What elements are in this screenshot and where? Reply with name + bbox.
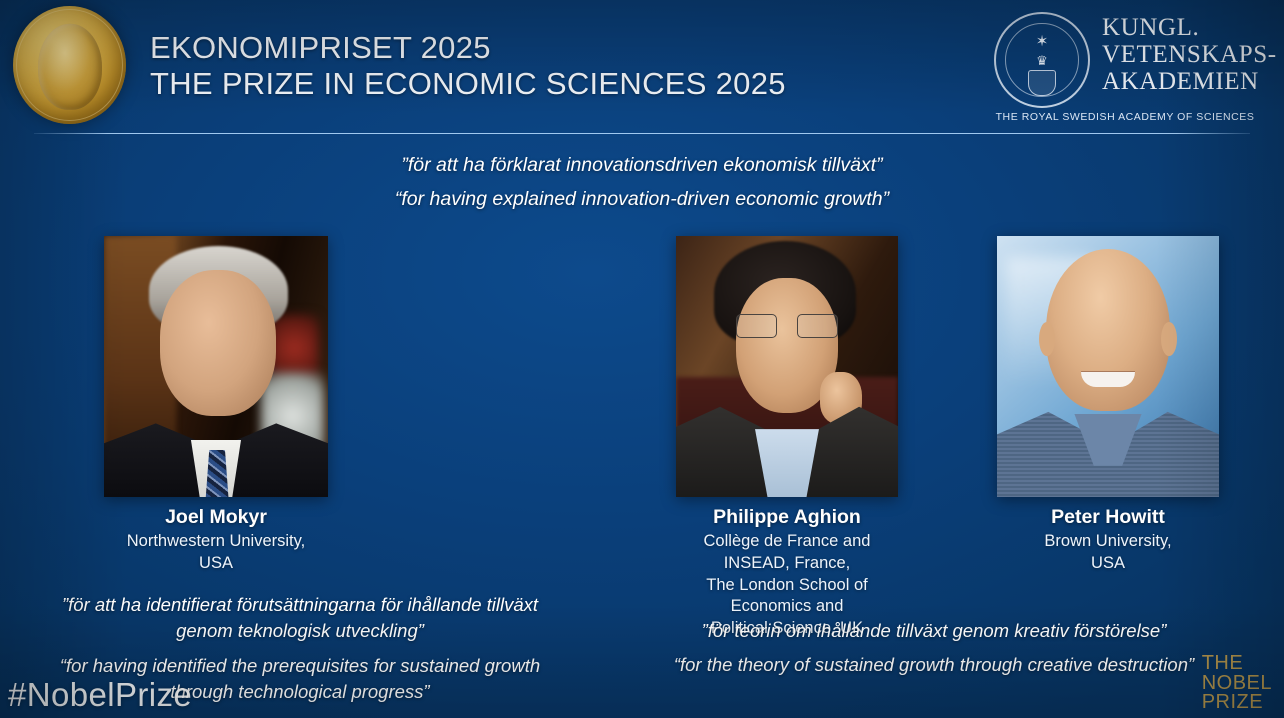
title-english: THE PRIZE IN ECONOMIC SCIENCES 2025 (150, 66, 786, 102)
affiliation-line: Northwestern University, (104, 531, 328, 553)
affiliation-line: USA (104, 553, 328, 575)
nobel-prize-announcement-slide: EKONOMIPRISET 2025 THE PRIZE IN ECONOMIC… (0, 0, 1284, 718)
academy-line-2: VETENSKAPS- (1102, 41, 1277, 68)
main-citation-english: “for having explained innovation-driven … (0, 182, 1284, 216)
watermark-line-1: THE (1202, 654, 1272, 673)
affiliation-line: The London School of Economics and (676, 575, 898, 619)
citation-left-swedish-2: genom teknologisk utveckling” (0, 618, 600, 644)
nobel-medal-icon (13, 6, 126, 124)
header-divider (34, 133, 1250, 134)
academy-line-3: AKADEMIEN (1102, 68, 1277, 95)
title-swedish: EKONOMIPRISET 2025 (150, 30, 786, 66)
nobel-prize-watermark: THE NOBEL PRIZE (1202, 654, 1272, 712)
star-icon: ✶ (1036, 34, 1049, 49)
crown-icon: ♛ (1036, 54, 1048, 67)
laureate-card-mokyr: Photo: Peter Mosimann Joel Mokyr Northwe… (104, 236, 328, 575)
laureate-photo-howitt (997, 236, 1219, 497)
royal-academy-seal-icon: ✶ ♛ (994, 12, 1090, 108)
watermark-line-2: NOBEL (1202, 674, 1272, 693)
affiliation-line: Brown University, (997, 531, 1219, 553)
affiliation-line: USA (997, 553, 1219, 575)
laureate-card-howitt: Peter Howitt Brown University, USA (997, 236, 1219, 575)
citation-right: ”för teorin om ihållande tillväxt genom … (614, 618, 1254, 679)
portrait-face (160, 270, 276, 416)
spacer (0, 645, 600, 653)
laureate-photo-aghion (676, 236, 898, 497)
page-title: EKONOMIPRISET 2025 THE PRIZE IN ECONOMIC… (150, 30, 786, 103)
academy-logo: ✶ ♛ KUNGL. VETENSKAPS- AKADEMIEN THE ROY… (994, 8, 1256, 126)
main-citation-swedish: ”för att ha förklarat innovationsdriven … (0, 148, 1284, 182)
watermark-line-3: PRIZE (1202, 693, 1272, 712)
portrait-glasses (736, 314, 838, 337)
academy-name: KUNGL. VETENSKAPS- AKADEMIEN (1102, 14, 1277, 95)
laureate-affiliation-mokyr: Northwestern University, USA (104, 531, 328, 575)
laureate-affiliation-howitt: Brown University, USA (997, 531, 1219, 575)
laureate-name-aghion: Philippe Aghion (676, 506, 898, 529)
academy-subtitle: THE ROYAL SWEDISH ACADEMY OF SCIENCES (994, 111, 1256, 123)
portrait-smile (1081, 372, 1134, 388)
glasses-lens-right (797, 314, 838, 337)
shield-icon (1028, 70, 1056, 96)
portrait-ear-right (1161, 322, 1177, 356)
laureate-name-mokyr: Joel Mokyr (104, 506, 328, 529)
main-citation: ”för att ha förklarat innovationsdriven … (0, 148, 1284, 216)
citation-right-swedish: ”för teorin om ihållande tillväxt genom … (614, 618, 1254, 644)
academy-line-1: KUNGL. (1102, 14, 1277, 41)
citation-left-swedish-1: ”för att ha identifierat förutsättningar… (0, 592, 600, 618)
laureate-name-howitt: Peter Howitt (997, 506, 1219, 529)
hashtag-nobelprize: #NobelPrize (8, 676, 192, 714)
affiliation-line: Collège de France and INSEAD, France, (676, 531, 898, 575)
glasses-lens-left (736, 314, 777, 337)
header: EKONOMIPRISET 2025 THE PRIZE IN ECONOMIC… (0, 0, 1284, 136)
laureate-photo-mokyr: Photo: Peter Mosimann (104, 236, 328, 497)
medal-rim (16, 9, 123, 121)
portrait-ear-left (1039, 322, 1055, 356)
citation-right-english: “for the theory of sustained growth thro… (614, 652, 1254, 678)
laureate-card-aghion: Philippe Aghion Collège de France and IN… (676, 236, 898, 640)
spacer (614, 644, 1254, 652)
